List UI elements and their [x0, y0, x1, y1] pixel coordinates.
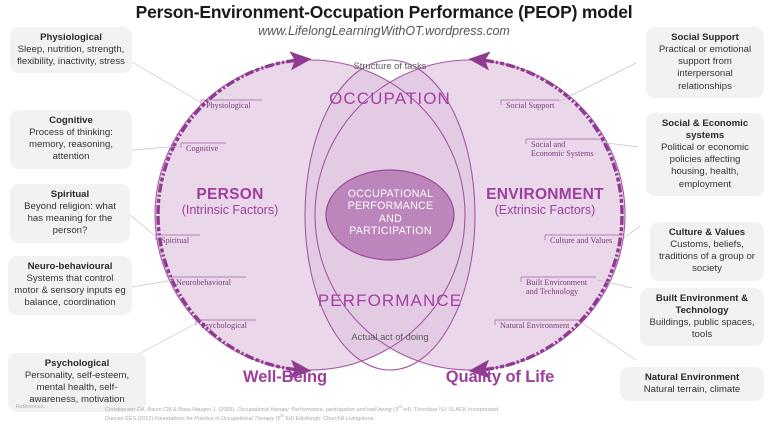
callout-culture-values-title: Culture & Values: [656, 227, 758, 239]
callout-social-support-title: Social Support: [652, 32, 758, 44]
center-line-2: PERFORMANCE: [318, 200, 463, 212]
callout-culture-values: Culture & Values Customs, beliefs, tradi…: [650, 222, 764, 281]
inner-tag-psychological: Psychological: [196, 320, 247, 330]
inner-tag-built-env-line-1: Built Environment: [526, 278, 587, 287]
peop-diagram-canvas: Person-Environment-Occupation Performanc…: [0, 0, 768, 432]
callout-spiritual-title: Spiritual: [16, 189, 124, 201]
inner-tag-culture-and-values: Culture and Values: [545, 235, 612, 245]
inner-tag-neurobehavioral: Neurobehavioral: [171, 277, 231, 287]
callout-spiritual: Spiritual Beyond religion: what has mean…: [10, 184, 130, 243]
inner-tag-natural-environment: Natural Environment: [495, 320, 569, 330]
ref2-title: Foundations for Practice in Occupational…: [155, 416, 274, 422]
reference-line-1: Christiansen CH, Baum CM & Bass-Haugen J…: [105, 404, 498, 413]
callout-physiological-title: Physiological: [16, 32, 126, 44]
inner-tag-social-economic-line-1: Social and: [531, 140, 594, 149]
inner-tag-social-economic-systems: Social and Economic Systems: [526, 139, 594, 159]
well-being-label: Well-Being: [195, 368, 375, 387]
center-line-3: AND: [318, 213, 463, 225]
callout-psychological-title: Psychological: [14, 358, 140, 370]
callout-natural-env-body: Natural terrain, climate: [626, 384, 758, 396]
callout-cognitive-body: Process of thinking: memory, reasoning, …: [16, 127, 126, 164]
environment-label-group: ENVIRONMENT (Extrinsic Factors): [460, 186, 630, 218]
callout-cognitive-title: Cognitive: [16, 115, 126, 127]
callout-social-support: Social Support Practical or emotional su…: [646, 27, 764, 98]
callout-physiological: Physiological Sleep, nutrition, strength…: [10, 27, 132, 73]
performance-label: PERFORMANCE: [310, 291, 470, 311]
callout-built-env-body: Buildings, public spaces, tools: [646, 317, 758, 341]
occupation-label: OCCUPATION: [310, 89, 470, 109]
person-subtitle: (Intrinsic Factors): [155, 203, 305, 218]
callout-neuro-title: Neuro-behavioural: [14, 261, 126, 273]
ref2-part-d: Ed) Edinburgh: Churchill Livingstone: [284, 416, 373, 422]
inner-tag-social-support: Social Support: [501, 100, 554, 110]
callout-culture-values-body: Customs, beliefs, traditions of a group …: [656, 239, 758, 276]
inner-tag-physiological: Physiological: [201, 100, 251, 110]
references-label: References:: [16, 404, 45, 410]
callout-social-economic-body: Political or economic policies affecting…: [652, 142, 758, 191]
callout-natural-env-title: Natural Environment: [626, 372, 758, 384]
callout-psychological: Psychological Personality, self-esteem, …: [8, 353, 146, 412]
center-line-4: PARTICIPATION: [318, 225, 463, 237]
callout-physiological-body: Sleep, nutrition, strength, flexibility,…: [16, 44, 126, 68]
occupational-performance-participation-label: OCCUPATIONAL PERFORMANCE AND PARTICIPATI…: [318, 188, 463, 238]
ref1-part-a: Christiansen CH, Baum CM & Bass-Haugen J…: [105, 407, 237, 413]
environment-subtitle: (Extrinsic Factors): [460, 203, 630, 218]
callout-built-environment-technology: Built Environment & Technology Buildings…: [640, 288, 764, 346]
person-label-group: PERSON (Intrinsic Factors): [155, 186, 305, 218]
ref1-title: Occupational therapy: Performance, parti…: [237, 407, 391, 413]
callout-neuro-body: Systems that control motor & sensory inp…: [14, 273, 126, 310]
actual-act-of-doing-label: Actual act of doing: [315, 331, 465, 342]
callout-cognitive: Cognitive Process of thinking: memory, r…: [10, 110, 132, 169]
callout-social-economic-title: Social & Economic systems: [652, 118, 758, 142]
inner-tag-cognitive: Cognitive: [181, 143, 218, 153]
callout-social-economic-systems: Social & Economic systems Political or e…: [646, 113, 764, 196]
callout-spiritual-body: Beyond religion: what has meaning for th…: [16, 201, 124, 238]
ref1-part-d: ed). Thorofare NJ: SLACK incorporated: [402, 407, 499, 413]
inner-tag-social-economic-line-2: Economic Systems: [531, 149, 594, 158]
reference-line-2: Duncan EES (2012) Foundations for Practi…: [105, 413, 373, 422]
ref2-part-a: Duncan EES (2012): [105, 416, 155, 422]
callout-built-env-title: Built Environment & Technology: [646, 293, 758, 317]
inner-tag-built-environment-technology: Built Environment and Technology: [521, 277, 587, 297]
quality-of-life-label: Quality of Life: [400, 368, 600, 387]
callout-psychological-body: Personality, self-esteem, mental health,…: [14, 370, 140, 407]
callout-neuro-behavioural: Neuro-behavioural Systems that control m…: [8, 256, 132, 315]
environment-title: ENVIRONMENT: [460, 186, 630, 203]
callout-natural-environment: Natural Environment Natural terrain, cli…: [620, 367, 764, 401]
center-line-1: OCCUPATIONAL: [318, 188, 463, 200]
structure-of-tasks-label: Structure of tasks: [315, 60, 465, 71]
inner-tag-built-env-line-2: and Technology: [526, 287, 587, 296]
person-title: PERSON: [155, 186, 305, 203]
inner-tag-spiritual: Spiritual: [156, 235, 189, 245]
callout-social-support-body: Practical or emotional support from inte…: [652, 44, 758, 93]
